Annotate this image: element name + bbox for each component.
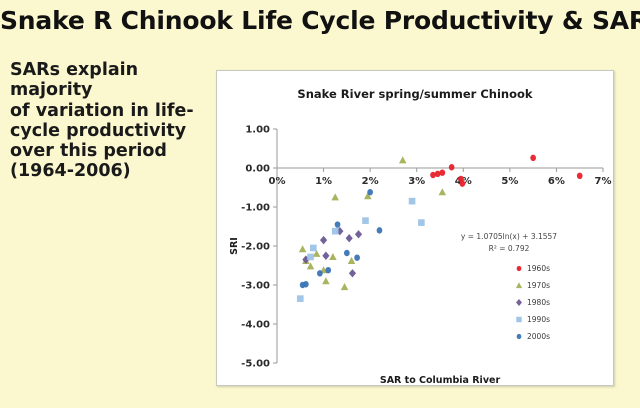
data-point[interactable]: [329, 253, 337, 260]
legend-marker-1970s-icon[interactable]: [516, 282, 522, 288]
legend-label: 1960s: [527, 264, 550, 273]
data-point[interactable]: [310, 245, 317, 252]
legend-label: 1970s: [527, 281, 550, 290]
series-1990s: [297, 198, 425, 302]
legend-marker-1980s-icon[interactable]: [516, 299, 522, 306]
data-point[interactable]: [355, 230, 362, 238]
data-point[interactable]: [362, 217, 369, 224]
y-tick-label: -5.00: [241, 359, 270, 370]
data-point[interactable]: [322, 252, 329, 260]
data-point[interactable]: [399, 156, 407, 163]
data-point[interactable]: [344, 250, 350, 256]
data-point[interactable]: [320, 236, 327, 244]
side-note-line: over this period: [10, 141, 215, 161]
data-point[interactable]: [439, 188, 447, 195]
series-2000s: [300, 189, 383, 288]
data-point[interactable]: [377, 227, 383, 233]
legend-label: 1980s: [527, 298, 550, 307]
data-point[interactable]: [307, 254, 314, 261]
x-tick-label: 5%: [501, 176, 518, 187]
data-point[interactable]: [367, 189, 373, 195]
series-1980s: [302, 227, 362, 278]
side-note-line: SARs explain majority: [10, 60, 215, 101]
y-tick-label: 1.00: [245, 125, 270, 136]
data-point[interactable]: [325, 267, 331, 273]
side-note-line: (1964-2006): [10, 161, 215, 181]
chart-panel: Snake River spring/summer Chinook 1.000.…: [216, 70, 614, 386]
x-tick-label: 6%: [548, 176, 565, 187]
data-point[interactable]: [439, 169, 445, 175]
legend-marker-2000s-icon[interactable]: [517, 334, 522, 339]
legend-marker-1960s-icon[interactable]: [517, 266, 522, 271]
data-point[interactable]: [332, 228, 339, 235]
page-title: Snake R Chinook Life Cycle Productivity …: [0, 6, 640, 35]
data-point[interactable]: [335, 221, 341, 227]
legend-item-1970s[interactable]: 1970s: [516, 281, 550, 290]
x-tick-label: 7%: [595, 176, 612, 187]
side-note-text: SARs explain majorityof variation in lif…: [10, 60, 215, 182]
y-tick-label: -4.00: [241, 320, 270, 331]
data-point[interactable]: [297, 295, 304, 302]
r-squared-label: R² = 0.792: [489, 244, 530, 253]
x-tick-label: 0%: [269, 176, 286, 187]
data-point[interactable]: [418, 219, 425, 226]
legend-marker-1990s-icon[interactable]: [516, 317, 521, 322]
side-note-line: of variation in life-: [10, 101, 215, 121]
y-tick-label: -1.00: [241, 203, 270, 214]
side-note-line: cycle productivity: [10, 121, 215, 141]
slide-canvas: Snake R Chinook Life Cycle Productivity …: [0, 0, 640, 408]
data-point[interactable]: [460, 180, 466, 186]
data-point[interactable]: [354, 254, 360, 260]
data-point[interactable]: [299, 245, 307, 252]
legend-label: 2000s: [527, 332, 550, 341]
data-point[interactable]: [349, 269, 356, 277]
data-point[interactable]: [346, 234, 353, 242]
trendline-equation: y = 1.0705ln(x) + 3.1557: [461, 232, 557, 241]
data-point[interactable]: [530, 155, 536, 161]
y-tick-label: 0.00: [245, 164, 270, 175]
data-point[interactable]: [348, 257, 356, 264]
legend-item-1990s[interactable]: 1990s: [516, 315, 550, 324]
scatter-plot[interactable]: 1.000.00-1.00-2.00-3.00-4.00-5.000%1%2%3…: [217, 71, 613, 385]
y-tick-label: -2.00: [241, 242, 270, 253]
y-tick-label: -3.00: [241, 281, 270, 292]
data-point[interactable]: [303, 281, 309, 287]
y-axis-title: SRI: [229, 237, 240, 255]
legend-item-1980s[interactable]: 1980s: [516, 298, 550, 307]
x-tick-label: 2%: [362, 176, 379, 187]
legend-item-2000s[interactable]: 2000s: [517, 332, 550, 341]
data-point[interactable]: [322, 277, 330, 284]
data-point[interactable]: [331, 193, 339, 200]
x-axis-title: SAR to Columbia River: [380, 375, 501, 385]
data-point[interactable]: [341, 283, 349, 290]
data-point[interactable]: [409, 198, 416, 205]
data-point[interactable]: [317, 270, 323, 276]
data-point[interactable]: [449, 164, 455, 170]
x-tick-label: 3%: [408, 176, 425, 187]
legend-item-1960s[interactable]: 1960s: [517, 264, 550, 273]
x-tick-label: 1%: [315, 176, 332, 187]
data-point[interactable]: [577, 173, 583, 179]
legend-label: 1990s: [527, 315, 550, 324]
